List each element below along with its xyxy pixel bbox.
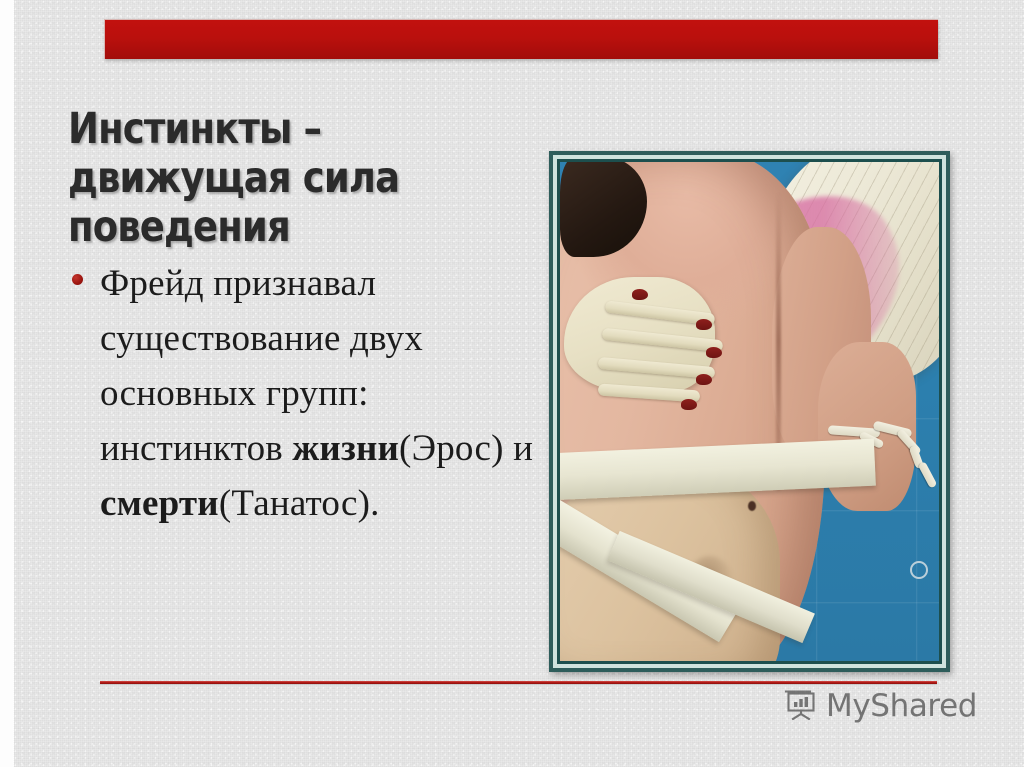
illustration-inner-border [553, 155, 946, 668]
myshared-watermark: MyShared [784, 686, 977, 725]
ring-detail-icon [910, 561, 928, 579]
bullet-text-part-3: (Танатос). [219, 483, 380, 524]
list-item: Фрейд признавал существование двух основ… [72, 256, 542, 531]
nail-5 [681, 399, 697, 410]
bullet-text-part-2: (Эрос) и [399, 428, 533, 469]
bullet-text: Фрейд признавал существование двух основ… [100, 256, 542, 531]
nail-3 [706, 347, 722, 358]
bottom-red-rule [100, 681, 937, 684]
bullet-dot-icon [72, 274, 83, 285]
skeleton-bone-5 [918, 461, 938, 489]
slide-canvas: Инстинкты – движущая сила поведения Фрей… [0, 0, 1024, 767]
bullet-text-bold-life: жизни [292, 428, 399, 469]
mole-dot [748, 501, 756, 511]
illustration-image [560, 162, 939, 661]
page-title: Инстинкты – движущая сила поведения [68, 105, 498, 252]
nail-1 [632, 289, 648, 300]
bullet-text-bold-death: смерти [100, 483, 219, 524]
bullet-list: Фрейд признавал существование двух основ… [72, 256, 542, 531]
top-red-banner [104, 19, 938, 59]
presentation-board-icon [784, 686, 818, 725]
left-margin-strip [0, 0, 13, 767]
illustration-frame [549, 151, 950, 672]
watermark-label: MyShared [826, 688, 977, 724]
